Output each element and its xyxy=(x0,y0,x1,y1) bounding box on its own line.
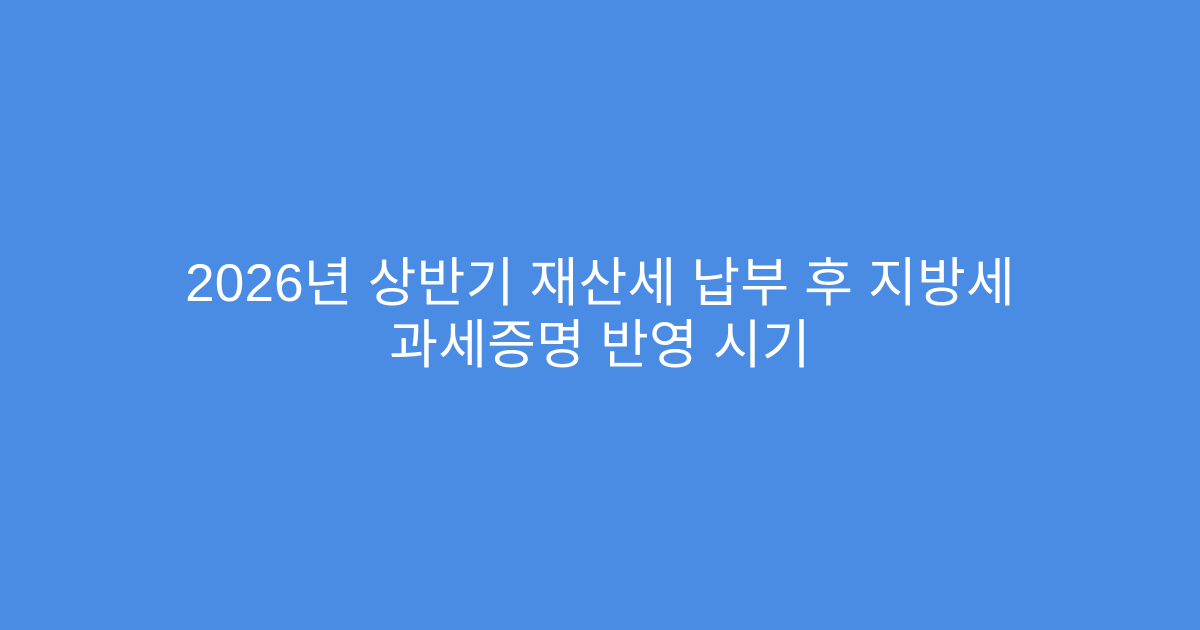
page-title: 2026년 상반기 재산세 납부 후 지방세 과세증명 반영 시기 xyxy=(90,253,1110,377)
og-image-card: 2026년 상반기 재산세 납부 후 지방세 과세증명 반영 시기 xyxy=(0,0,1200,630)
title-container: 2026년 상반기 재산세 납부 후 지방세 과세증명 반영 시기 xyxy=(90,253,1110,377)
